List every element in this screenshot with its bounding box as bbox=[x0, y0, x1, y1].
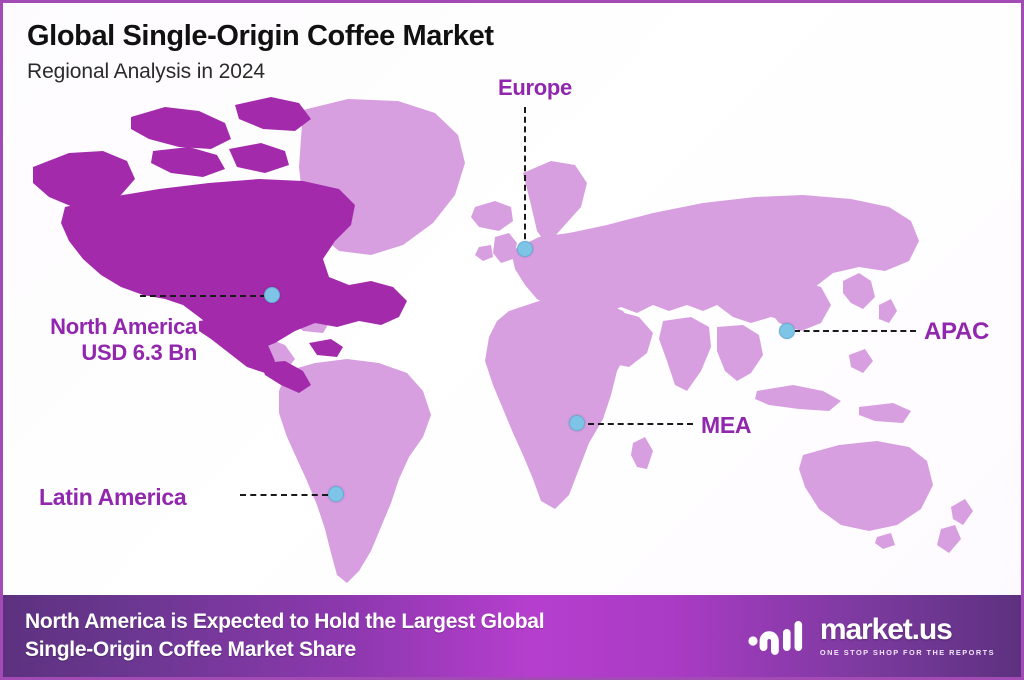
leader-line-apac bbox=[794, 330, 916, 332]
page-title: Global Single-Origin Coffee Market bbox=[27, 21, 494, 51]
callout-mea[interactable]: MEA bbox=[701, 412, 751, 439]
map-base-regions bbox=[241, 99, 973, 583]
header-block: Global Single-Origin Coffee Market Regio… bbox=[27, 21, 494, 84]
infographic-canvas: Global Single-Origin Coffee Market Regio… bbox=[0, 0, 1024, 680]
map-marker-apac[interactable] bbox=[779, 323, 795, 339]
leader-line-europe bbox=[524, 107, 526, 249]
callout-label-latin-america: Latin America bbox=[39, 484, 186, 511]
logo-wordmark: market.us bbox=[820, 615, 995, 645]
map-marker-mea[interactable] bbox=[569, 415, 585, 431]
page-subtitle: Regional Analysis in 2024 bbox=[27, 60, 494, 84]
map-marker-latin-america[interactable] bbox=[328, 486, 344, 502]
map-marker-north-america[interactable] bbox=[264, 287, 280, 303]
callout-label-europe: Europe bbox=[498, 75, 572, 101]
logo-tagline: ONE STOP SHOP FOR THE REPORTS bbox=[820, 649, 995, 656]
bottom-banner: North America is Expected to Hold the La… bbox=[3, 595, 1021, 677]
logo-text-block: market.us ONE STOP SHOP FOR THE REPORTS bbox=[820, 615, 995, 656]
callout-label-apac: APAC bbox=[924, 318, 989, 346]
callout-apac[interactable]: APAC bbox=[924, 318, 989, 346]
banner-line-1: North America is Expected to Hold the La… bbox=[25, 608, 544, 636]
leader-line-north-america bbox=[140, 295, 266, 297]
callout-north-america[interactable]: North America USD 6.3 Bn bbox=[17, 314, 197, 366]
map-marker-europe[interactable] bbox=[517, 241, 533, 257]
brand-logo[interactable]: market.us ONE STOP SHOP FOR THE REPORTS bbox=[747, 615, 1003, 657]
callout-latin-america[interactable]: Latin America bbox=[39, 484, 186, 511]
callout-value-north-america: USD 6.3 Bn bbox=[17, 340, 197, 366]
callout-label-north-america: North America bbox=[17, 314, 197, 340]
market-us-logo-icon bbox=[747, 615, 809, 657]
callout-label-mea: MEA bbox=[701, 412, 751, 439]
leader-line-mea bbox=[588, 423, 693, 425]
banner-line-2: Single-Origin Coffee Market Share bbox=[25, 636, 544, 664]
leader-line-latin-america bbox=[240, 494, 328, 496]
banner-text-block: North America is Expected to Hold the La… bbox=[25, 608, 544, 663]
callout-europe[interactable]: Europe bbox=[498, 75, 572, 101]
